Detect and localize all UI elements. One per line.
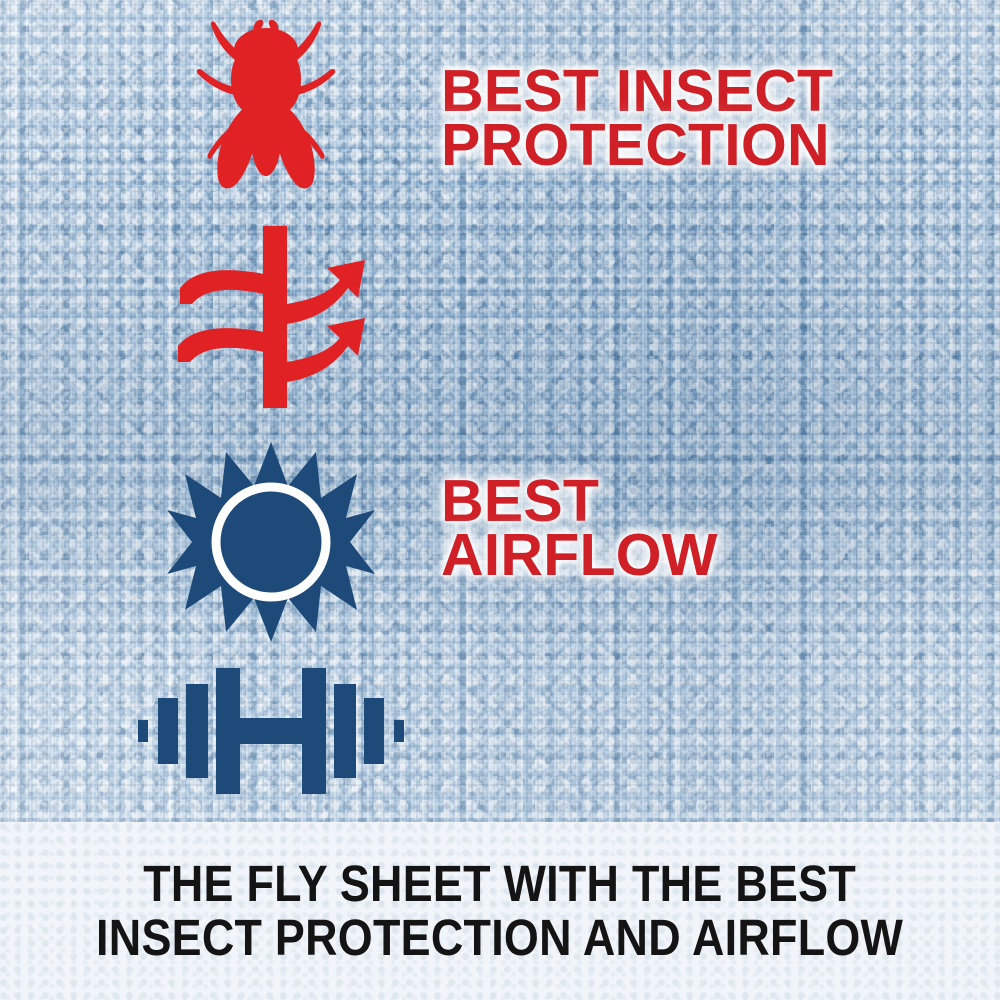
dumbbell-icon (136, 660, 406, 800)
fly-icon (186, 14, 346, 204)
product-feature-poster: BEST INSECT PROTECTION BEST AIRFLO (0, 0, 1000, 1000)
airflow-arrows-icon (160, 222, 380, 412)
feature-row-durability: PLAYFUL DURABILITY (0, 650, 1000, 820)
sun-icon (166, 440, 376, 645)
feature-row-uv-protection: 40% UV PROTECTION (0, 440, 1000, 650)
bottom-banner: THE FLY SHEET WITH THE BEST INSECT PROTE… (0, 822, 1000, 1000)
feature-row-insect-protection: BEST INSECT PROTECTION (0, 14, 1000, 214)
banner-headline: THE FLY SHEET WITH THE BEST INSECT PROTE… (96, 857, 903, 965)
feature-label-insect-protection: BEST INSECT PROTECTION (441, 64, 833, 173)
feature-row-airflow: BEST AIRFLOW (0, 222, 1000, 412)
